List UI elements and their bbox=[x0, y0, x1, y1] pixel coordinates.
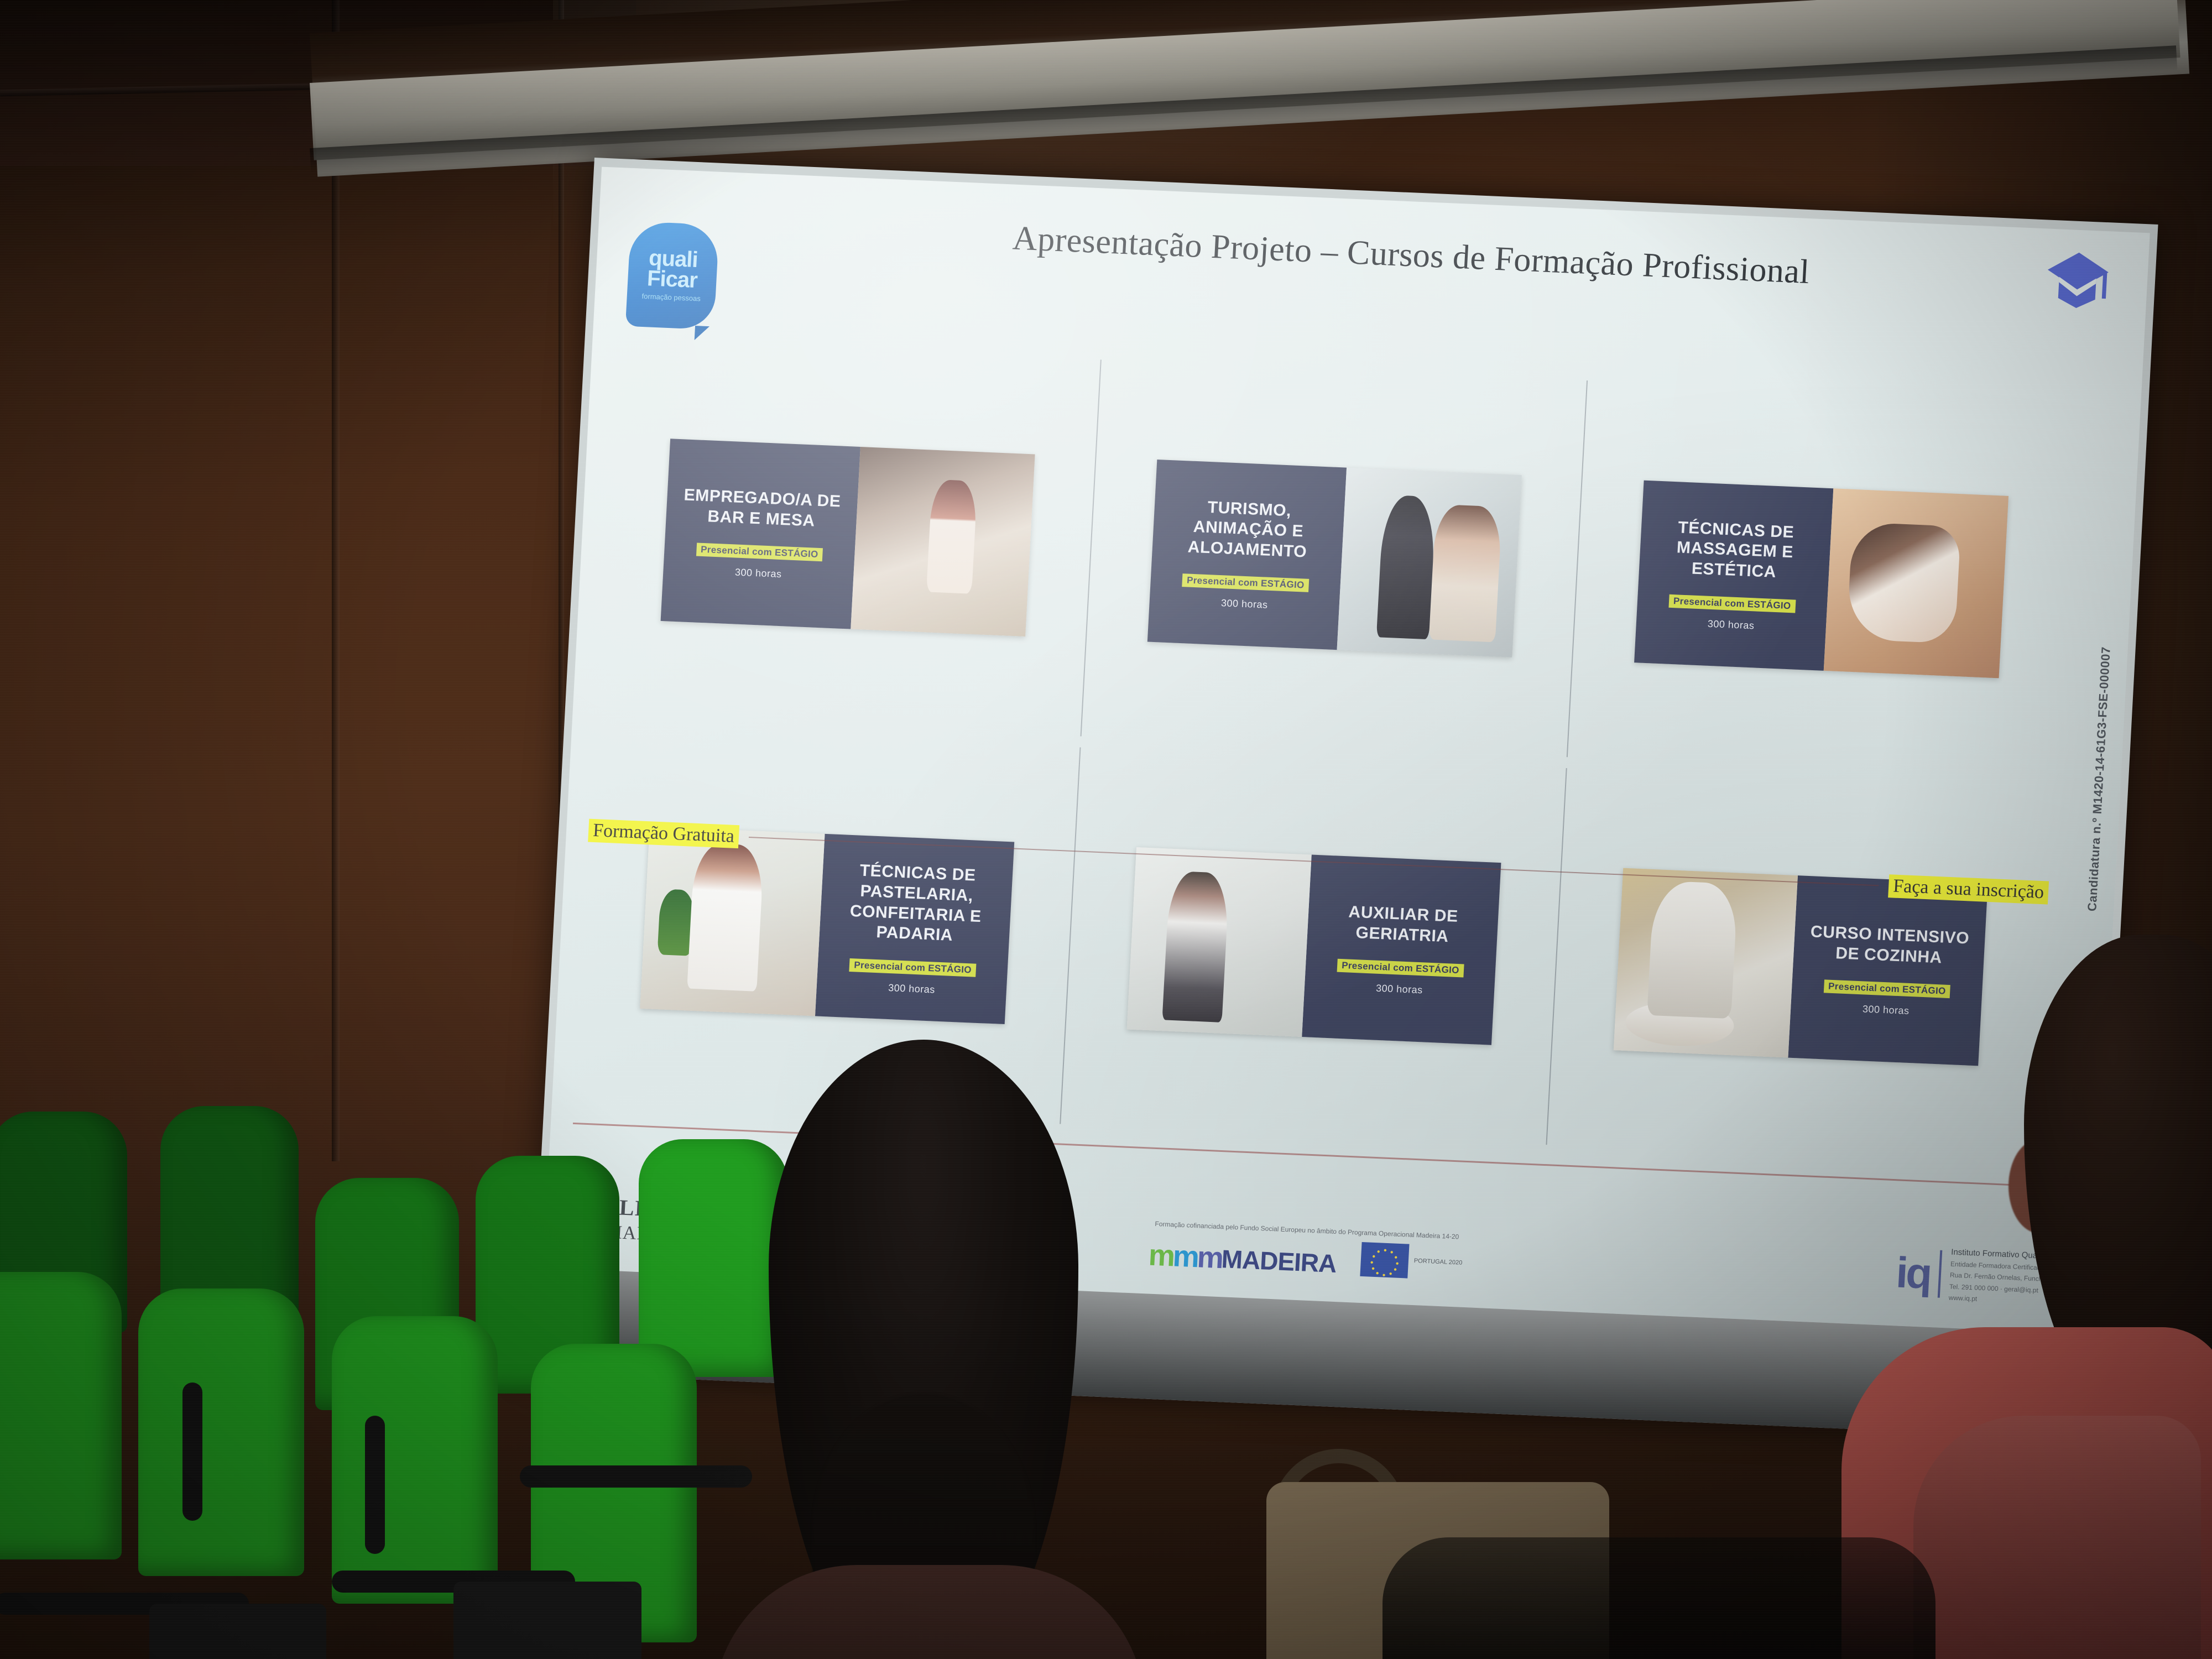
qualificar-logo: quali Ficar formação pessoas bbox=[625, 221, 719, 330]
foreground-shadow bbox=[1383, 1537, 1936, 1659]
enroll-highlight: Faça a sua inscrição bbox=[1888, 874, 2049, 904]
madeira-wordmark: MADEIRA bbox=[1221, 1249, 1337, 1275]
course-hours: 300 horas bbox=[1863, 1003, 1910, 1017]
course-cell: TURISMO, ANIMAÇÃO E ALOJAMENTO Presencia… bbox=[1081, 354, 1588, 763]
graduation-cap-icon bbox=[2043, 248, 2112, 312]
iq-institute-logo: iq Instituto Formativo Qualificar Entida… bbox=[1895, 1245, 2057, 1306]
course-grid: EMPREGADO/A DE BAR E MESA Presencial com… bbox=[573, 333, 2074, 1171]
eu-logo: PORTUGAL 2020 bbox=[1360, 1242, 1463, 1281]
eu-stars-icon bbox=[1360, 1242, 1409, 1279]
course-cell: TÉCNICAS DE MASSAGEM E ESTÉTICA Presenci… bbox=[1568, 375, 2075, 784]
course-card-text: EMPREGADO/A DE BAR E MESA Presencial com… bbox=[661, 439, 860, 629]
course-cell: TÉCNICAS DE PASTELARIA, CONFEITARIA E PA… bbox=[573, 721, 1081, 1130]
portugal-2020-label: PORTUGAL 2020 bbox=[1413, 1258, 1462, 1267]
course-modality: Presencial com ESTÁGIO bbox=[1824, 979, 1951, 998]
course-card[interactable]: TURISMO, ANIMAÇÃO E ALOJAMENTO Presencia… bbox=[1147, 460, 1522, 658]
course-title: AUXILIAR DE GERIATRIA bbox=[1312, 901, 1493, 949]
course-title: CURSO INTENSIVO DE COZINHA bbox=[1799, 921, 1980, 969]
course-photo-tourism bbox=[1337, 468, 1522, 658]
madeira-logo: mmm MADEIRA bbox=[1148, 1243, 1337, 1275]
iq-wordmark: iq bbox=[1895, 1257, 1931, 1290]
course-modality: Presencial com ESTÁGIO bbox=[1182, 574, 1309, 593]
logo-tagline: formação pessoas bbox=[641, 293, 701, 303]
course-hours: 300 horas bbox=[1707, 618, 1755, 632]
course-photo-massage bbox=[1824, 488, 2008, 678]
iq-divider-bar bbox=[1938, 1250, 1943, 1298]
logo-line-2: Ficar bbox=[646, 268, 697, 291]
iq-line: www.iq.pt bbox=[1949, 1294, 2054, 1306]
course-modality: Presencial com ESTÁGIO bbox=[696, 543, 823, 562]
course-cell: CURSO INTENSIVO DE COZINHA Presencial co… bbox=[1547, 763, 2054, 1171]
free-training-highlight: Formação Gratuita bbox=[588, 819, 739, 849]
course-modality: Presencial com ESTÁGIO bbox=[1668, 594, 1796, 613]
course-title: TÉCNICAS DE MASSAGEM E ESTÉTICA bbox=[1644, 517, 1826, 585]
course-hours: 300 horas bbox=[1220, 598, 1268, 612]
course-photo-bartender bbox=[851, 447, 1035, 637]
seat-armrest bbox=[182, 1383, 202, 1521]
seat-armrest bbox=[365, 1416, 385, 1554]
slide-title: Apresentação Projeto – Cursos de Formaçã… bbox=[885, 213, 1937, 298]
course-hours: 300 horas bbox=[888, 982, 936, 996]
course-card-text: TÉCNICAS DE MASSAGEM E ESTÉTICA Presenci… bbox=[1634, 481, 1833, 671]
seat-back-dark bbox=[453, 1582, 641, 1659]
course-title: TURISMO, ANIMAÇÃO E ALOJAMENTO bbox=[1157, 495, 1339, 564]
seat-back-dark bbox=[149, 1604, 326, 1659]
seat bbox=[0, 1272, 122, 1559]
course-card[interactable]: TÉCNICAS DE MASSAGEM E ESTÉTICA Presenci… bbox=[1634, 481, 2008, 679]
course-card-text: TURISMO, ANIMAÇÃO E ALOJAMENTO Presencia… bbox=[1147, 460, 1347, 650]
course-cell: EMPREGADO/A DE BAR E MESA Presencial com… bbox=[594, 333, 1102, 742]
course-cell: AUXILIAR DE GERIATRIA Presencial com EST… bbox=[1060, 742, 1567, 1151]
photo-scene: quali Ficar formação pessoas Apresentaçã… bbox=[0, 0, 2212, 1659]
course-title: TÉCNICAS DE PASTELARIA, CONFEITARIA E PA… bbox=[825, 860, 1008, 948]
seat bbox=[138, 1288, 304, 1576]
audience-shirt-fold bbox=[1913, 1416, 2201, 1659]
seat bbox=[332, 1316, 498, 1604]
footer-cofinance-block: Formação cofinanciada pelo Fundo Social … bbox=[1148, 1220, 1464, 1281]
course-modality: Presencial com ESTÁGIO bbox=[849, 958, 977, 977]
seat bbox=[639, 1139, 788, 1377]
eu-flag-icon bbox=[1360, 1242, 1409, 1279]
course-title: EMPREGADO/A DE BAR E MESA bbox=[671, 485, 852, 533]
seat-armrest bbox=[520, 1465, 752, 1488]
iq-line: Tel. 291 000 000 · geral@iq.pt bbox=[1949, 1283, 2055, 1295]
madeira-mark-glyphs: mmm bbox=[1148, 1243, 1222, 1270]
course-modality: Presencial com ESTÁGIO bbox=[1337, 959, 1464, 978]
seat-rows bbox=[0, 1106, 841, 1659]
funding-logo-row: mmm MADEIRA bbox=[1148, 1233, 1463, 1281]
course-hours: 300 horas bbox=[735, 567, 782, 581]
course-hours: 300 horas bbox=[1376, 983, 1423, 997]
course-card[interactable]: EMPREGADO/A DE BAR E MESA Presencial com… bbox=[661, 439, 1035, 637]
